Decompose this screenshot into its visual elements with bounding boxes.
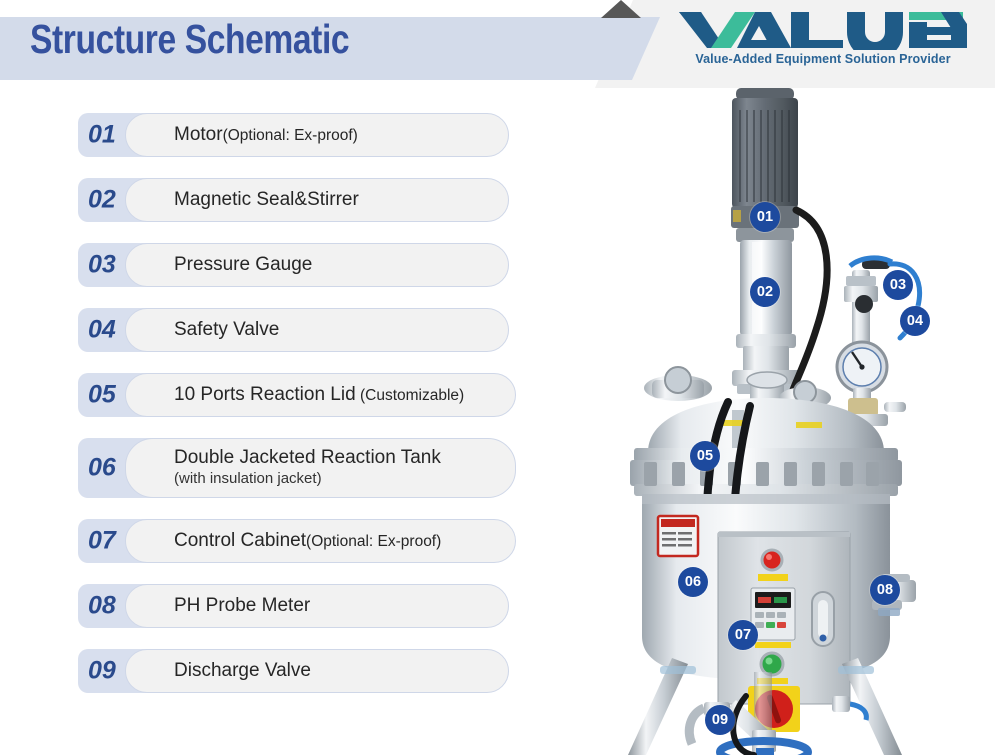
corner-triangle-accent (601, 0, 641, 18)
spec-label: Pressure Gauge (174, 255, 494, 276)
spec-list: Motor(Optional: Ex-proof) 01 Magnetic Se… (78, 113, 498, 714)
motor-label (733, 210, 741, 222)
spec-label: Magnetic Seal&Stirrer (174, 190, 494, 211)
safety-valve-outlet (884, 402, 906, 412)
spec-row-09: Discharge Valve 09 (78, 649, 498, 693)
controller-label (755, 642, 791, 648)
motor-power-cable (790, 210, 827, 398)
spec-pill: Motor(Optional: Ex-proof) (125, 113, 509, 157)
spec-label: Motor(Optional: Ex-proof) (174, 125, 494, 146)
spec-number: 03 (88, 251, 116, 280)
spec-number: 08 (88, 592, 116, 621)
discharge-bend-pipe (689, 708, 704, 744)
callout-badge-04[interactable]: 04 (900, 306, 930, 336)
spec-row-07: Control Cabinet(Optional: Ex-proof) 07 (78, 519, 498, 563)
callout-badge-01[interactable]: 01 (750, 202, 780, 232)
callout-badge-03[interactable]: 03 (883, 270, 913, 300)
spec-label: Control Cabinet(Optional: Ex-proof) (174, 531, 501, 552)
lamp-label (758, 574, 788, 581)
spec-label: Double Jacketed Reaction Tank (174, 448, 501, 469)
callout-badge-07[interactable]: 07 (728, 620, 758, 650)
page-title: Structure Schematic (30, 16, 349, 63)
spec-number: 06 (88, 454, 116, 483)
spec-pill: Magnetic Seal&Stirrer (125, 178, 509, 222)
spec-row-04: Safety Valve 04 (78, 308, 498, 352)
spec-label-suffix: (Optional: Ex-proof) (223, 127, 358, 144)
spec-row-03: Pressure Gauge 03 (78, 243, 498, 287)
spec-number: 05 (88, 381, 116, 410)
emergency-indicator-lamp (762, 550, 782, 570)
spec-label-suffix: (Customizable) (356, 387, 465, 404)
valuen-logotype-icon (679, 10, 967, 50)
spec-label: 10 Ports Reaction Lid (Customizable) (174, 385, 501, 406)
spec-number: 09 (88, 657, 116, 686)
logo-tagline: Value-Added Equipment Solution Provider (679, 52, 967, 66)
callout-badge-09[interactable]: 09 (705, 705, 735, 735)
callout-badge-08[interactable]: 08 (870, 575, 900, 605)
callout-badge-05[interactable]: 05 (690, 441, 720, 471)
spec-row-01: Motor(Optional: Ex-proof) 01 (78, 113, 498, 157)
valve-knob (855, 295, 873, 313)
lid-flange-upper (634, 448, 898, 462)
spec-label-suffix: (Optional: Ex-proof) (306, 533, 441, 550)
spec-number: 04 (88, 316, 116, 345)
reactor-illustration (600, 80, 995, 755)
spec-pill: 10 Ports Reaction Lid (Customizable) (125, 373, 516, 417)
spec-row-02: Magnetic Seal&Stirrer 02 (78, 178, 498, 222)
callout-badge-02[interactable]: 02 (750, 277, 780, 307)
spec-number: 01 (88, 121, 116, 150)
spec-row-08: PH Probe Meter 08 (78, 584, 498, 628)
company-logo: Value-Added Equipment Solution Provider (679, 10, 967, 66)
spec-sublabel: (with insulation jacket) (174, 471, 501, 488)
spec-label: Safety Valve (174, 320, 494, 341)
spec-number: 07 (88, 527, 116, 556)
spec-pill: Pressure Gauge (125, 243, 509, 287)
spec-pill: Discharge Valve (125, 649, 509, 693)
spec-pill: Control Cabinet(Optional: Ex-proof) (125, 519, 516, 563)
seal-collar (736, 334, 796, 348)
structure-schematic-page: Structure Schematic V (0, 0, 995, 755)
callout-badge-06[interactable]: 06 (678, 567, 708, 597)
spec-row-06: Double Jacketed Reaction Tank (with insu… (78, 438, 498, 498)
spec-label: Discharge Valve (174, 661, 494, 682)
flange-bolts (644, 462, 879, 486)
spec-row-05: 10 Ports Reaction Lid (Customizable) 05 (78, 373, 498, 417)
spec-pill: PH Probe Meter (125, 584, 509, 628)
start-button (761, 653, 783, 675)
spec-label: PH Probe Meter (174, 596, 494, 617)
spec-pill: Double Jacketed Reaction Tank (with insu… (125, 438, 516, 498)
spec-number: 02 (88, 186, 116, 215)
spec-pill: Safety Valve (125, 308, 509, 352)
product-photo: 01 02 03 04 05 06 07 08 09 (600, 80, 995, 755)
